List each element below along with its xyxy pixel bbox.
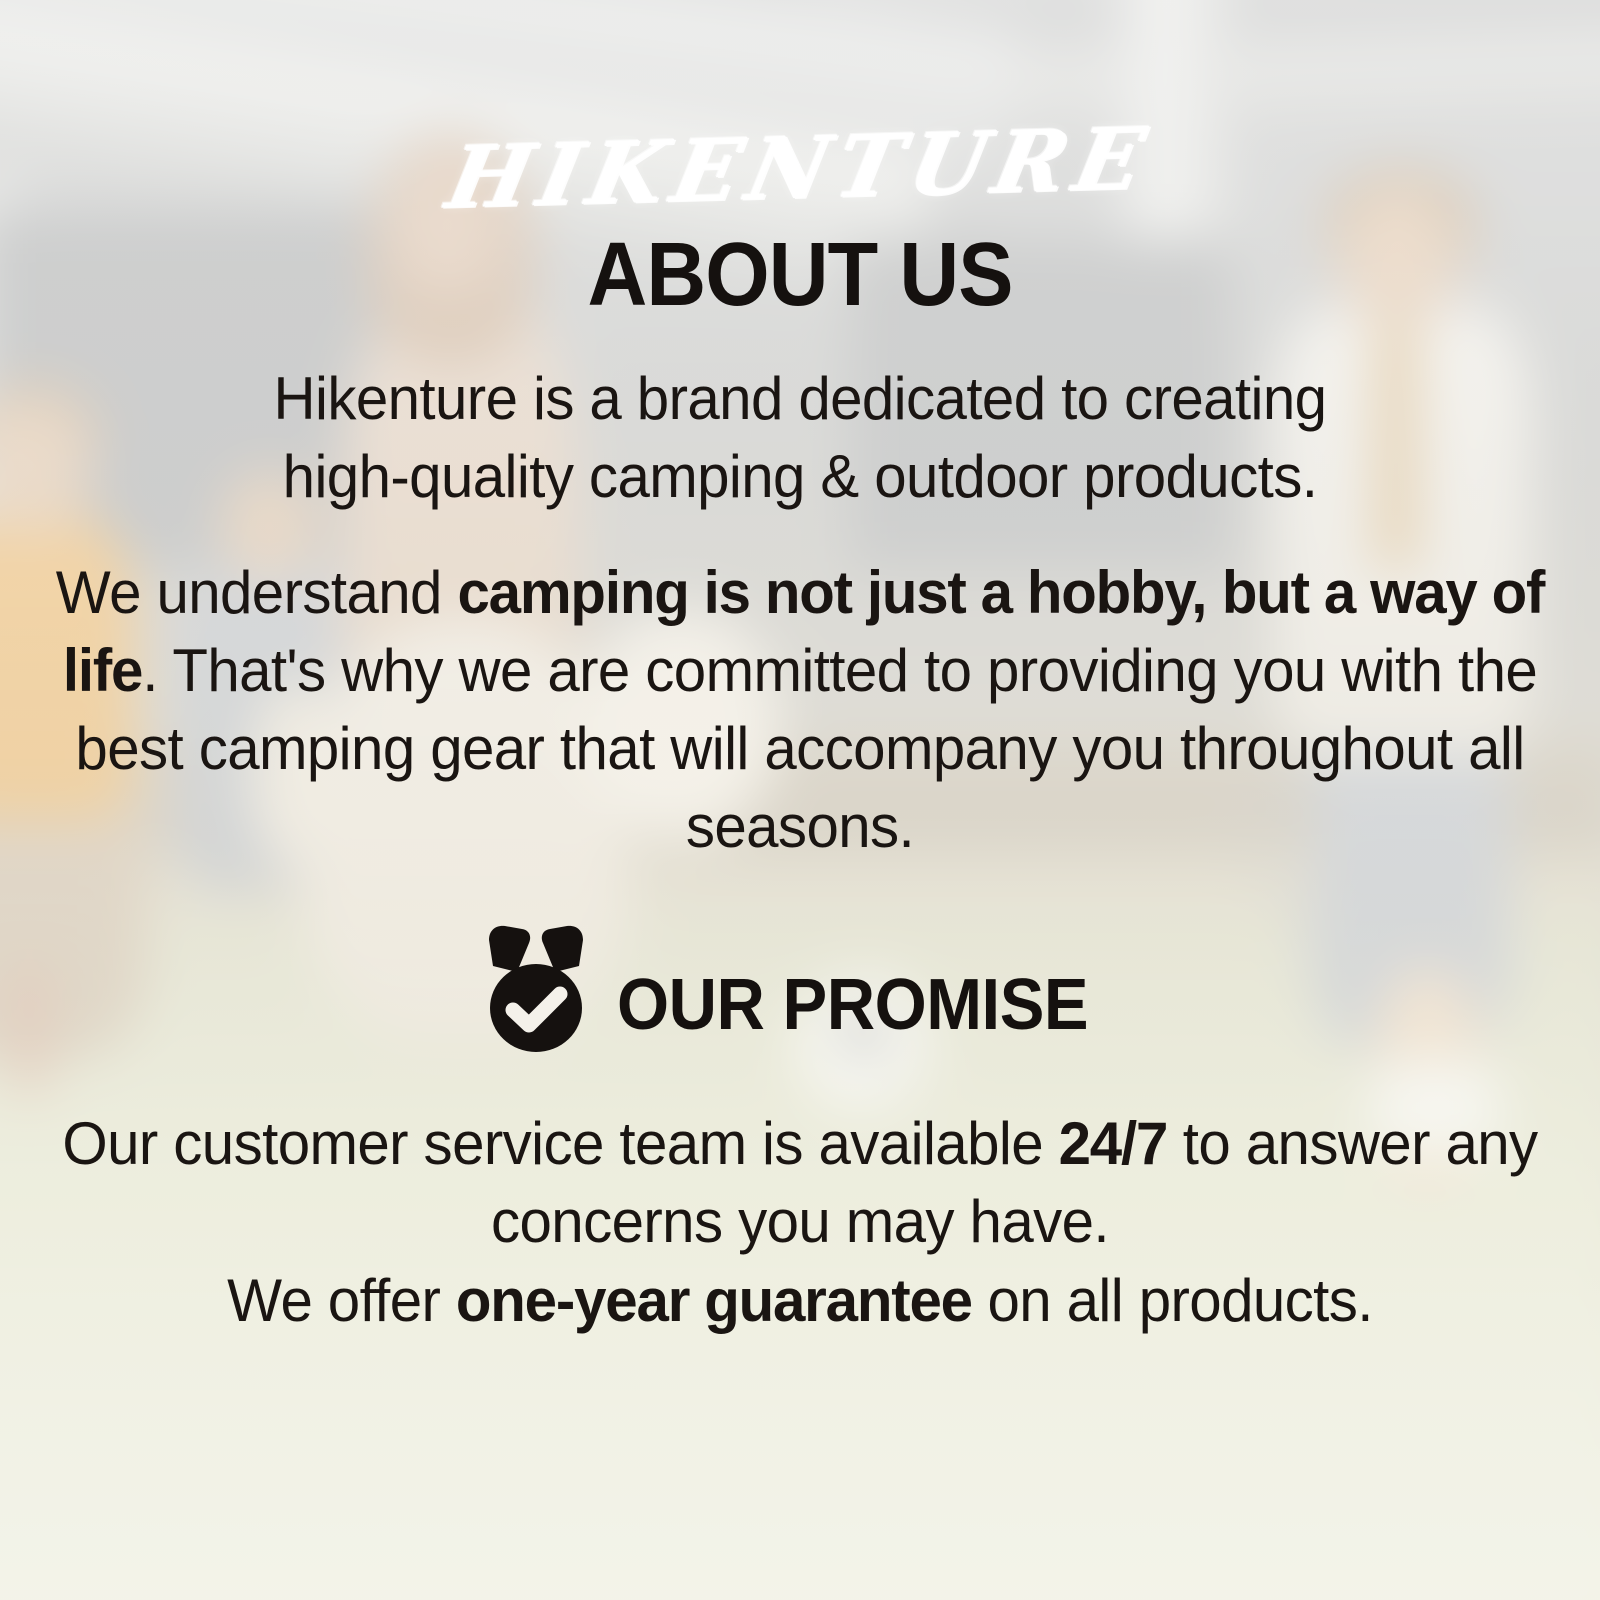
content-overlay: HIKENTURE ABOUT US Hikenture is a brand … — [0, 0, 1600, 1600]
our-promise-title: OUR PROMISE — [617, 935, 1088, 1041]
promise-service-paragraph: Our customer service team is available 2… — [45, 1105, 1554, 1261]
warranty-bold-guarantee: one-year guarantee — [456, 1267, 972, 1334]
service-text-part-1: Our customer service team is available — [62, 1110, 1058, 1177]
warranty-text-part-2: on all products. — [972, 1267, 1373, 1334]
page-title: ABOUT US — [64, 230, 1536, 320]
about-intro-line-1: Hikenture is a brand dedicated to creati… — [274, 365, 1327, 432]
about-mission-paragraph: We understand camping is not just a hobb… — [45, 554, 1554, 866]
about-intro-line-2: high-quality camping & outdoor products. — [283, 443, 1318, 510]
about-intro-paragraph: Hikenture is a brand dedicated to creati… — [45, 360, 1554, 516]
our-promise-header: OUR PROMISE — [0, 922, 1600, 1054]
mission-text-part-2: . That's why we are committed to providi… — [75, 637, 1537, 860]
warranty-text-part-1: We offer — [227, 1267, 456, 1334]
service-bold-24-7: 24/7 — [1059, 1110, 1168, 1177]
mission-text-part-1: We understand — [56, 559, 458, 626]
promise-warranty-paragraph: We offer one-year guarantee on all produ… — [45, 1262, 1554, 1340]
medal-check-icon — [477, 922, 595, 1054]
brand-script-logo: HIKENTURE — [0, 104, 1600, 235]
mission-bold-phrase-1: camping is not just a hobby, — [457, 559, 1206, 626]
about-us-banner: HIKENTURE ABOUT US Hikenture is a brand … — [0, 0, 1600, 1600]
